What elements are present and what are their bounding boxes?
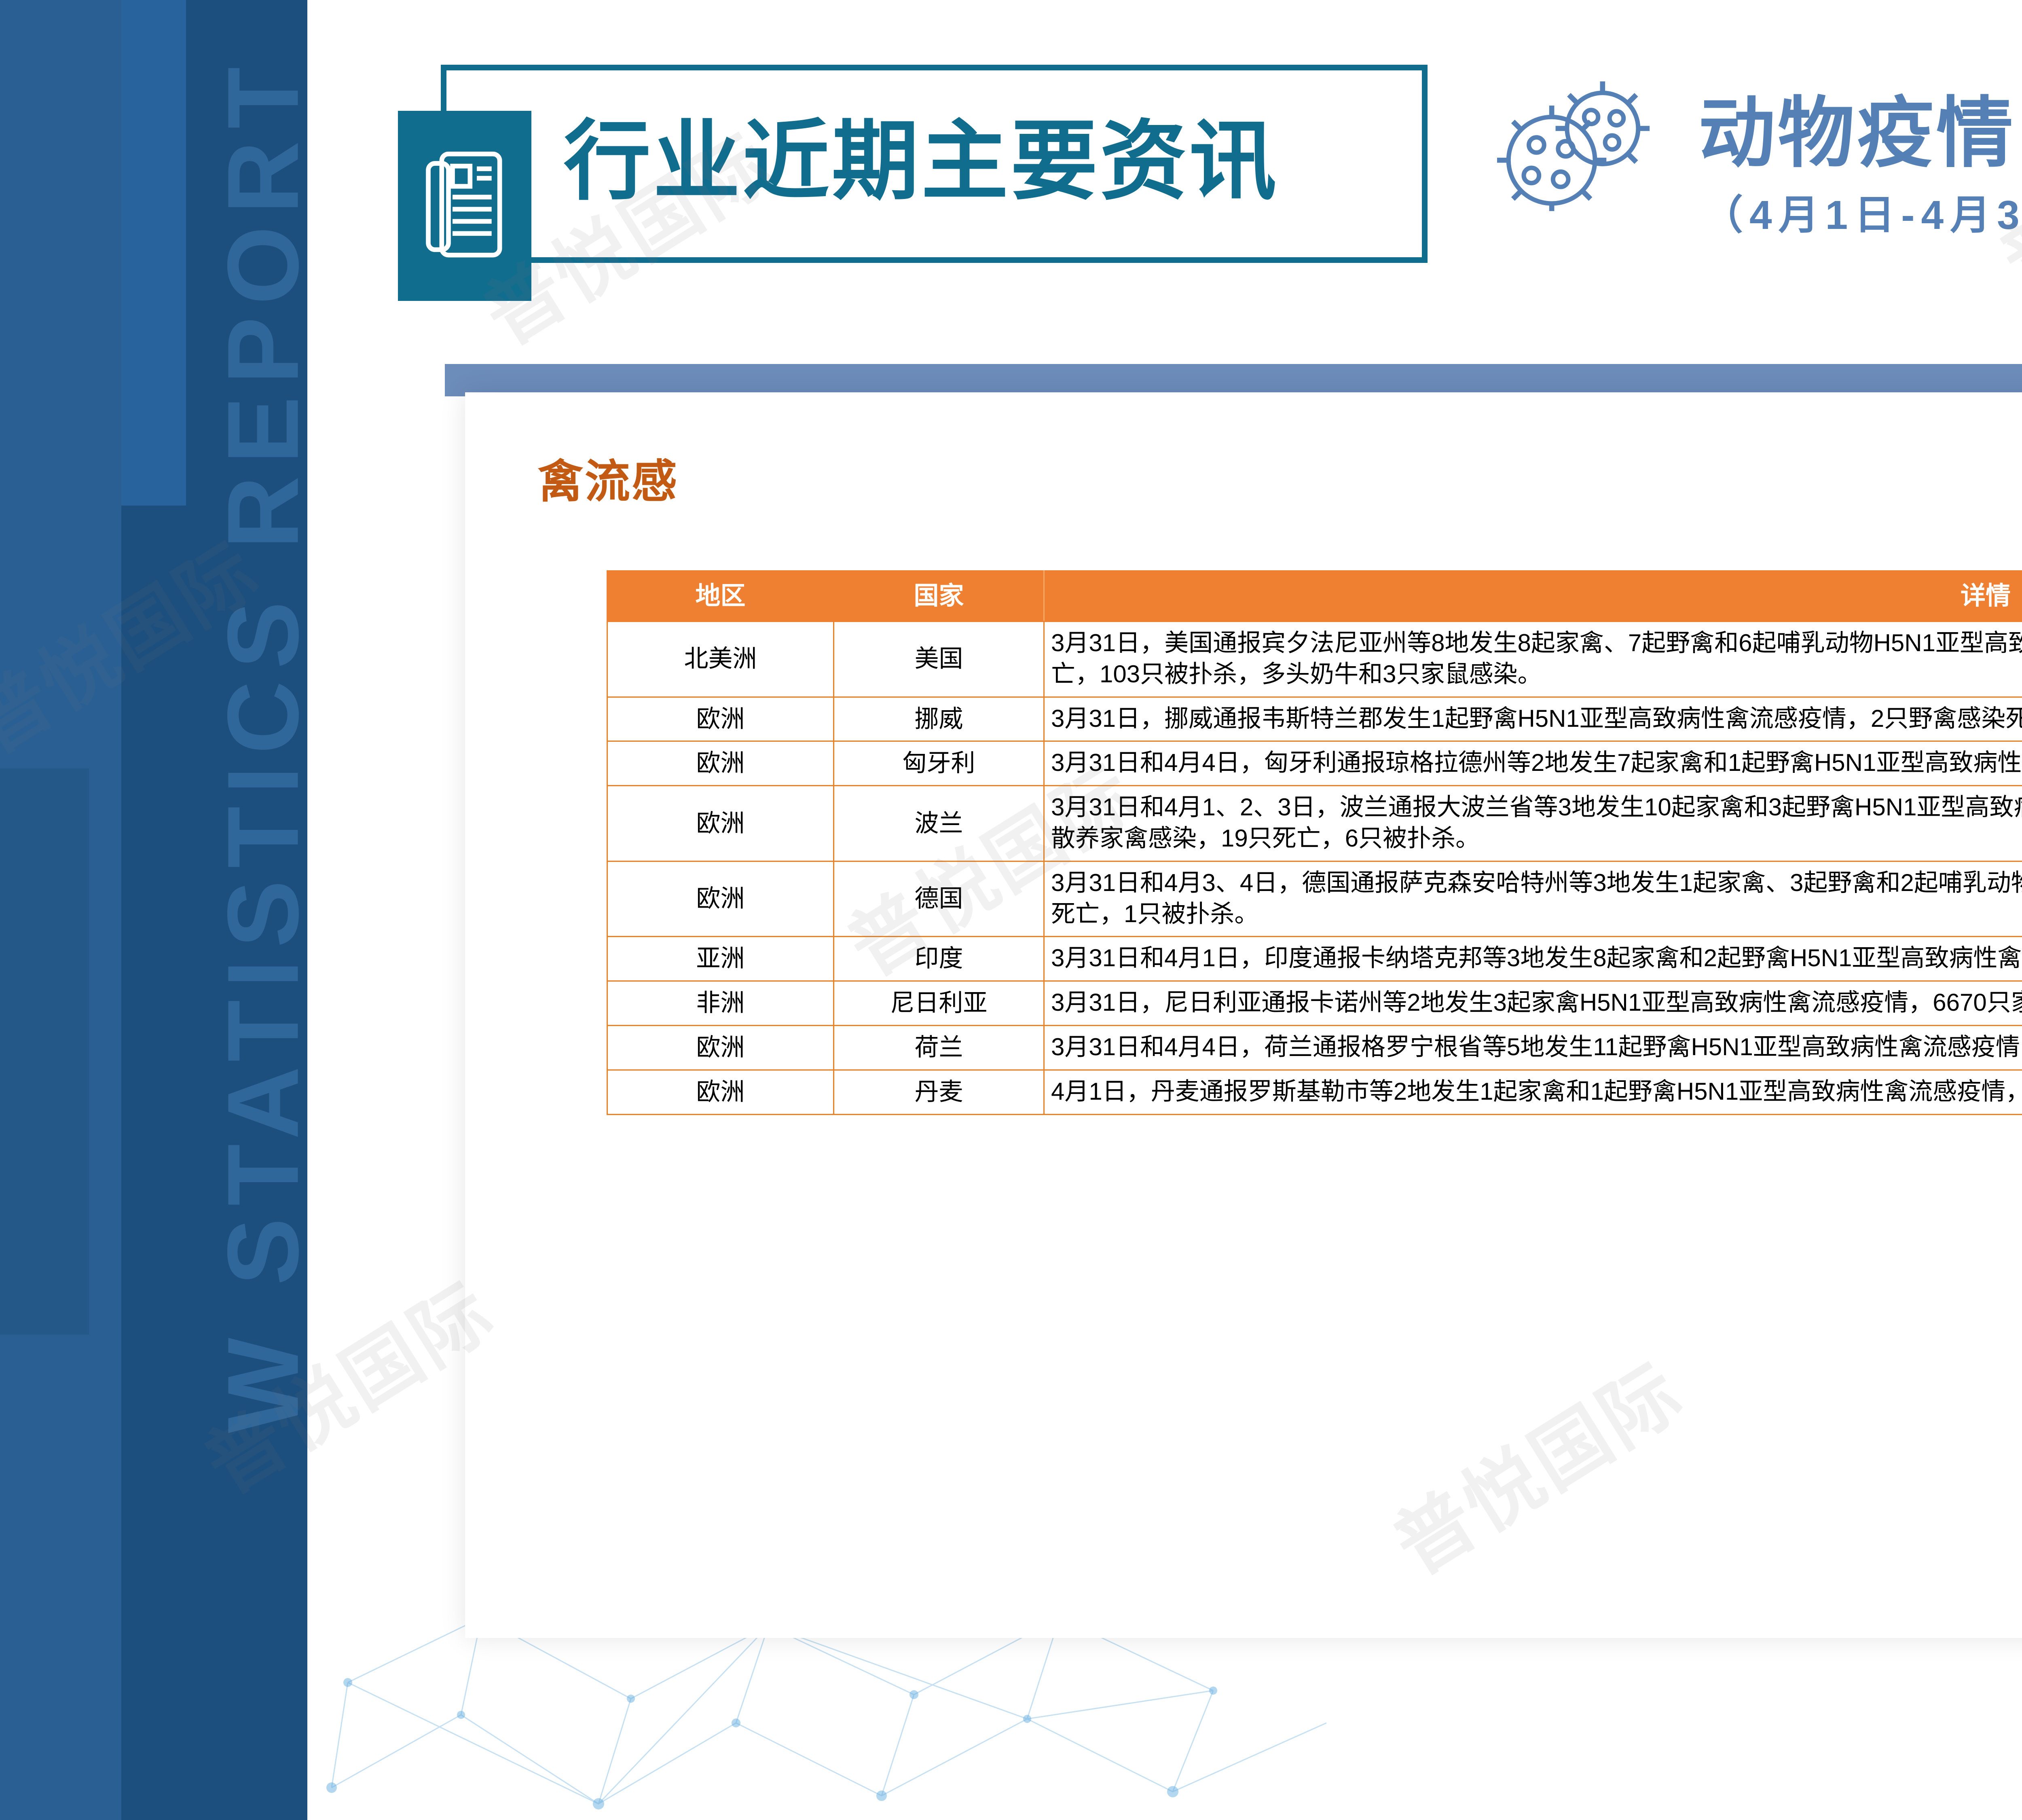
cell-region: 欧洲 xyxy=(607,861,834,937)
cell-country: 荷兰 xyxy=(834,1025,1044,1070)
cell-country: 匈牙利 xyxy=(834,741,1044,786)
newspaper-icon xyxy=(398,111,531,301)
cell-region: 欧洲 xyxy=(607,1070,834,1114)
table-body: 北美洲美国3月31日，美国通报宾夕法尼亚州等8地发生8起家禽、7起野禽和6起哺乳… xyxy=(607,622,2022,1115)
avian-influenza-table: 地区 国家 详情 北美洲美国3月31日，美国通报宾夕法尼亚州等8地发生8起家禽、… xyxy=(607,570,2022,1115)
cell-country: 印度 xyxy=(834,937,1044,981)
table-row: 欧洲匈牙利3月31日和4月4日，匈牙利通报琼格拉德州等2地发生7起家禽和1起野禽… xyxy=(607,741,2022,786)
cell-country: 美国 xyxy=(834,622,1044,697)
vertical-report-title: W STATISTICS REPORT xyxy=(205,0,308,1433)
cell-detail: 3月31日和4月3、4日，德国通报萨克森安哈特州等3地发生1起家禽、3起野禽和2… xyxy=(1044,861,2022,937)
cell-detail: 3月31日，尼日利亚通报卡诺州等2地发生3起家禽H5N1亚型高致病性禽流感疫情，… xyxy=(1044,981,2022,1026)
cell-region: 欧洲 xyxy=(607,741,834,786)
table-row: 欧洲荷兰3月31日和4月4日，荷兰通报格罗宁根省等5地发生11起野禽H5N1亚型… xyxy=(607,1025,2022,1070)
cell-detail: 3月31日，挪威通报韦斯特兰郡发生1起野禽H5N1亚型高致病性禽流感疫情，2只野… xyxy=(1044,697,2022,741)
table-row: 欧洲波兰3月31日和4月1、2、3日，波兰通报大波兰省等3地发生10起家禽和3起… xyxy=(607,786,2022,861)
column-header-detail: 详情 xyxy=(1044,571,2022,622)
virus-icon xyxy=(1480,79,1674,212)
band-stripe-dark xyxy=(0,768,89,1335)
page-title: 行业近期主要资讯 xyxy=(564,91,1279,216)
page-header: 行业近期主要资讯 动物疫情 （4月1日-4月30日） xyxy=(307,0,2022,372)
cell-detail: 3月31日和4月1日，印度通报卡纳塔克邦等3地发生8起家禽和2起野禽H5N1亚型… xyxy=(1044,937,2022,981)
band-stripe-mid xyxy=(121,0,186,506)
left-vertical-band: W STATISTICS REPORT xyxy=(0,0,307,1820)
cell-country: 挪威 xyxy=(834,697,1044,741)
cell-detail: 4月1日，丹麦通报罗斯基勒市等2地发生1起家禽和1起野禽H5N1亚型高致病性禽流… xyxy=(1044,1070,2022,1114)
cell-country: 德国 xyxy=(834,861,1044,937)
table-row: 欧洲挪威3月31日，挪威通报韦斯特兰郡发生1起野禽H5N1亚型高致病性禽流感疫情… xyxy=(607,697,2022,741)
table-row: 非洲尼日利亚3月31日，尼日利亚通报卡诺州等2地发生3起家禽H5N1亚型高致病性… xyxy=(607,981,2022,1026)
cell-region: 亚洲 xyxy=(607,937,834,981)
header-subtitle: 动物疫情 xyxy=(1698,71,2016,182)
cell-detail: 3月31日和4月4日，荷兰通报格罗宁根省等5地发生11起野禽H5N1亚型高致病性… xyxy=(1044,1025,2022,1070)
cell-detail: 3月31日和4月4日，匈牙利通报琼格拉德州等2地发生7起家禽和1起野禽H5N1亚… xyxy=(1044,741,2022,786)
cell-region: 欧洲 xyxy=(607,697,834,741)
header-date-range: （4月1日-4月30日） xyxy=(1703,182,2022,241)
cell-region: 欧洲 xyxy=(607,786,834,861)
table-row: 北美洲美国3月31日，美国通报宾夕法尼亚州等8地发生8起家禽、7起野禽和6起哺乳… xyxy=(607,622,2022,697)
cell-country: 丹麦 xyxy=(834,1070,1044,1114)
column-header-region: 地区 xyxy=(607,571,834,622)
table-row: 亚洲印度3月31日和4月1日，印度通报卡纳塔克邦等3地发生8起家禽和2起野禽H5… xyxy=(607,937,2022,981)
content-card: 禽流感 地区 国家 详情 北美洲美国3月31日，美国通报宾夕法尼亚州等8地发生8… xyxy=(465,392,2022,1638)
cell-country: 波兰 xyxy=(834,786,1044,861)
cell-detail: 3月31日和4月1、2、3日，波兰通报大波兰省等3地发生10起家禽和3起野禽H5… xyxy=(1044,786,2022,861)
cell-detail: 3月31日，美国通报宾夕法尼亚州等8地发生8起家禽、7起野禽和6起哺乳动物H5N… xyxy=(1044,622,2022,697)
section-title: 禽流感 xyxy=(538,445,679,510)
table-row: 欧洲丹麦4月1日，丹麦通报罗斯基勒市等2地发生1起家禽和1起野禽H5N1亚型高致… xyxy=(607,1070,2022,1114)
title-frame: 行业近期主要资讯 xyxy=(441,65,1428,263)
cell-region: 欧洲 xyxy=(607,1025,834,1070)
cell-country: 尼日利亚 xyxy=(834,981,1044,1026)
table-row: 欧洲德国3月31日和4月3、4日，德国通报萨克森安哈特州等3地发生1起家禽、3起… xyxy=(607,861,2022,937)
column-header-country: 国家 xyxy=(834,571,1044,622)
cell-region: 非洲 xyxy=(607,981,834,1026)
table-header-row: 地区 国家 详情 xyxy=(607,571,2022,622)
cell-region: 北美洲 xyxy=(607,622,834,697)
